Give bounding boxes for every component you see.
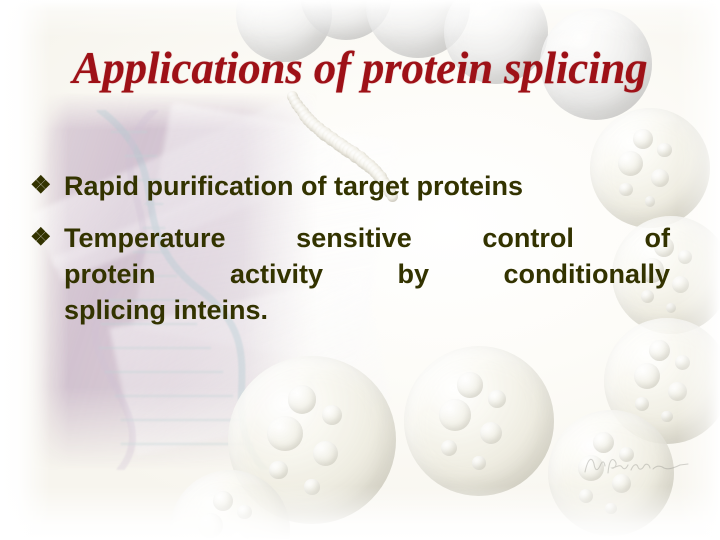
bead bbox=[325, 132, 339, 146]
pearl-bubble bbox=[635, 397, 649, 411]
bead bbox=[332, 137, 346, 151]
pearl-bubble bbox=[672, 276, 690, 294]
pearl-sphere bbox=[228, 356, 396, 524]
diamond-bullet-icon: ❖ bbox=[30, 168, 64, 204]
pearl-bubble bbox=[488, 390, 506, 408]
bullet-text-1: Rapid purification of target proteins bbox=[64, 168, 670, 204]
bead bbox=[346, 146, 360, 160]
bullet-text-2-line-1: Temperature sensitive control of bbox=[64, 220, 670, 256]
pearl-bubble bbox=[657, 143, 671, 157]
pearl-bubble bbox=[198, 513, 223, 538]
pearl-bubble bbox=[619, 447, 634, 462]
bullet-text-2: Temperature sensitive control of protein… bbox=[64, 220, 670, 328]
bead bbox=[342, 144, 356, 158]
pearl-bubble bbox=[231, 531, 249, 540]
bullet-list: ❖ Rapid purification of target proteins … bbox=[30, 168, 670, 344]
pearl-bubble bbox=[322, 405, 342, 425]
pearl-sphere bbox=[300, 0, 392, 40]
pearl-bubble bbox=[678, 250, 692, 264]
pearl-bubble bbox=[480, 422, 503, 445]
bead bbox=[294, 103, 306, 115]
bead bbox=[297, 106, 309, 118]
pearl-bubble bbox=[213, 491, 233, 511]
pearl-bubble bbox=[579, 489, 593, 503]
pearl-bubble bbox=[441, 440, 458, 457]
bead bbox=[353, 151, 367, 165]
bead bbox=[322, 130, 336, 144]
bead bbox=[302, 113, 315, 126]
pearl-bubble bbox=[593, 432, 614, 453]
bead bbox=[291, 99, 303, 111]
bead bbox=[308, 119, 321, 132]
presentation-slide: Applications of protein splicing ❖ Rapid… bbox=[0, 0, 720, 540]
artist-signature bbox=[582, 452, 692, 478]
diamond-bullet-icon: ❖ bbox=[30, 220, 64, 256]
bead bbox=[329, 135, 343, 149]
bullet-text-2-line-2: protein activity by conditionally bbox=[64, 256, 670, 292]
pearl-bubble bbox=[605, 503, 616, 514]
bead bbox=[339, 142, 353, 156]
pearl-bubble bbox=[612, 474, 631, 493]
pearl-bubble bbox=[578, 455, 604, 481]
pearl-bubble bbox=[267, 416, 302, 451]
pearl-sphere bbox=[404, 346, 554, 496]
bullet-item-2: ❖ Temperature sensitive control of prote… bbox=[30, 220, 670, 328]
pearl-bubble bbox=[269, 461, 287, 479]
bead bbox=[289, 95, 300, 106]
bead bbox=[299, 110, 311, 122]
pearl-bubble bbox=[668, 382, 687, 401]
pearl-sphere bbox=[548, 410, 674, 536]
pearl-bubble bbox=[472, 456, 486, 470]
pearl-bubble bbox=[304, 479, 319, 494]
bead bbox=[318, 127, 332, 141]
bead bbox=[305, 116, 318, 129]
bead bbox=[356, 154, 370, 168]
pearl-sphere bbox=[170, 470, 290, 540]
pearl-bubble bbox=[457, 372, 483, 398]
pearl-bubble bbox=[313, 441, 338, 466]
bullet-item-1: ❖ Rapid purification of target proteins bbox=[30, 168, 670, 204]
bead bbox=[335, 139, 349, 153]
bullet-text-2-line-3: splicing inteins. bbox=[64, 292, 670, 328]
bead bbox=[349, 149, 363, 163]
bead bbox=[312, 122, 325, 135]
pearl-bubble bbox=[237, 505, 251, 519]
pearl-bubble bbox=[288, 385, 317, 414]
pearl-bubble bbox=[634, 363, 660, 389]
slide-title: Applications of protein splicing bbox=[0, 44, 720, 93]
pearl-bubble bbox=[633, 129, 653, 149]
pearl-bubble bbox=[439, 399, 471, 431]
bead bbox=[315, 125, 328, 138]
pearl-bubble bbox=[675, 355, 690, 370]
pearl-bubble bbox=[661, 411, 672, 422]
